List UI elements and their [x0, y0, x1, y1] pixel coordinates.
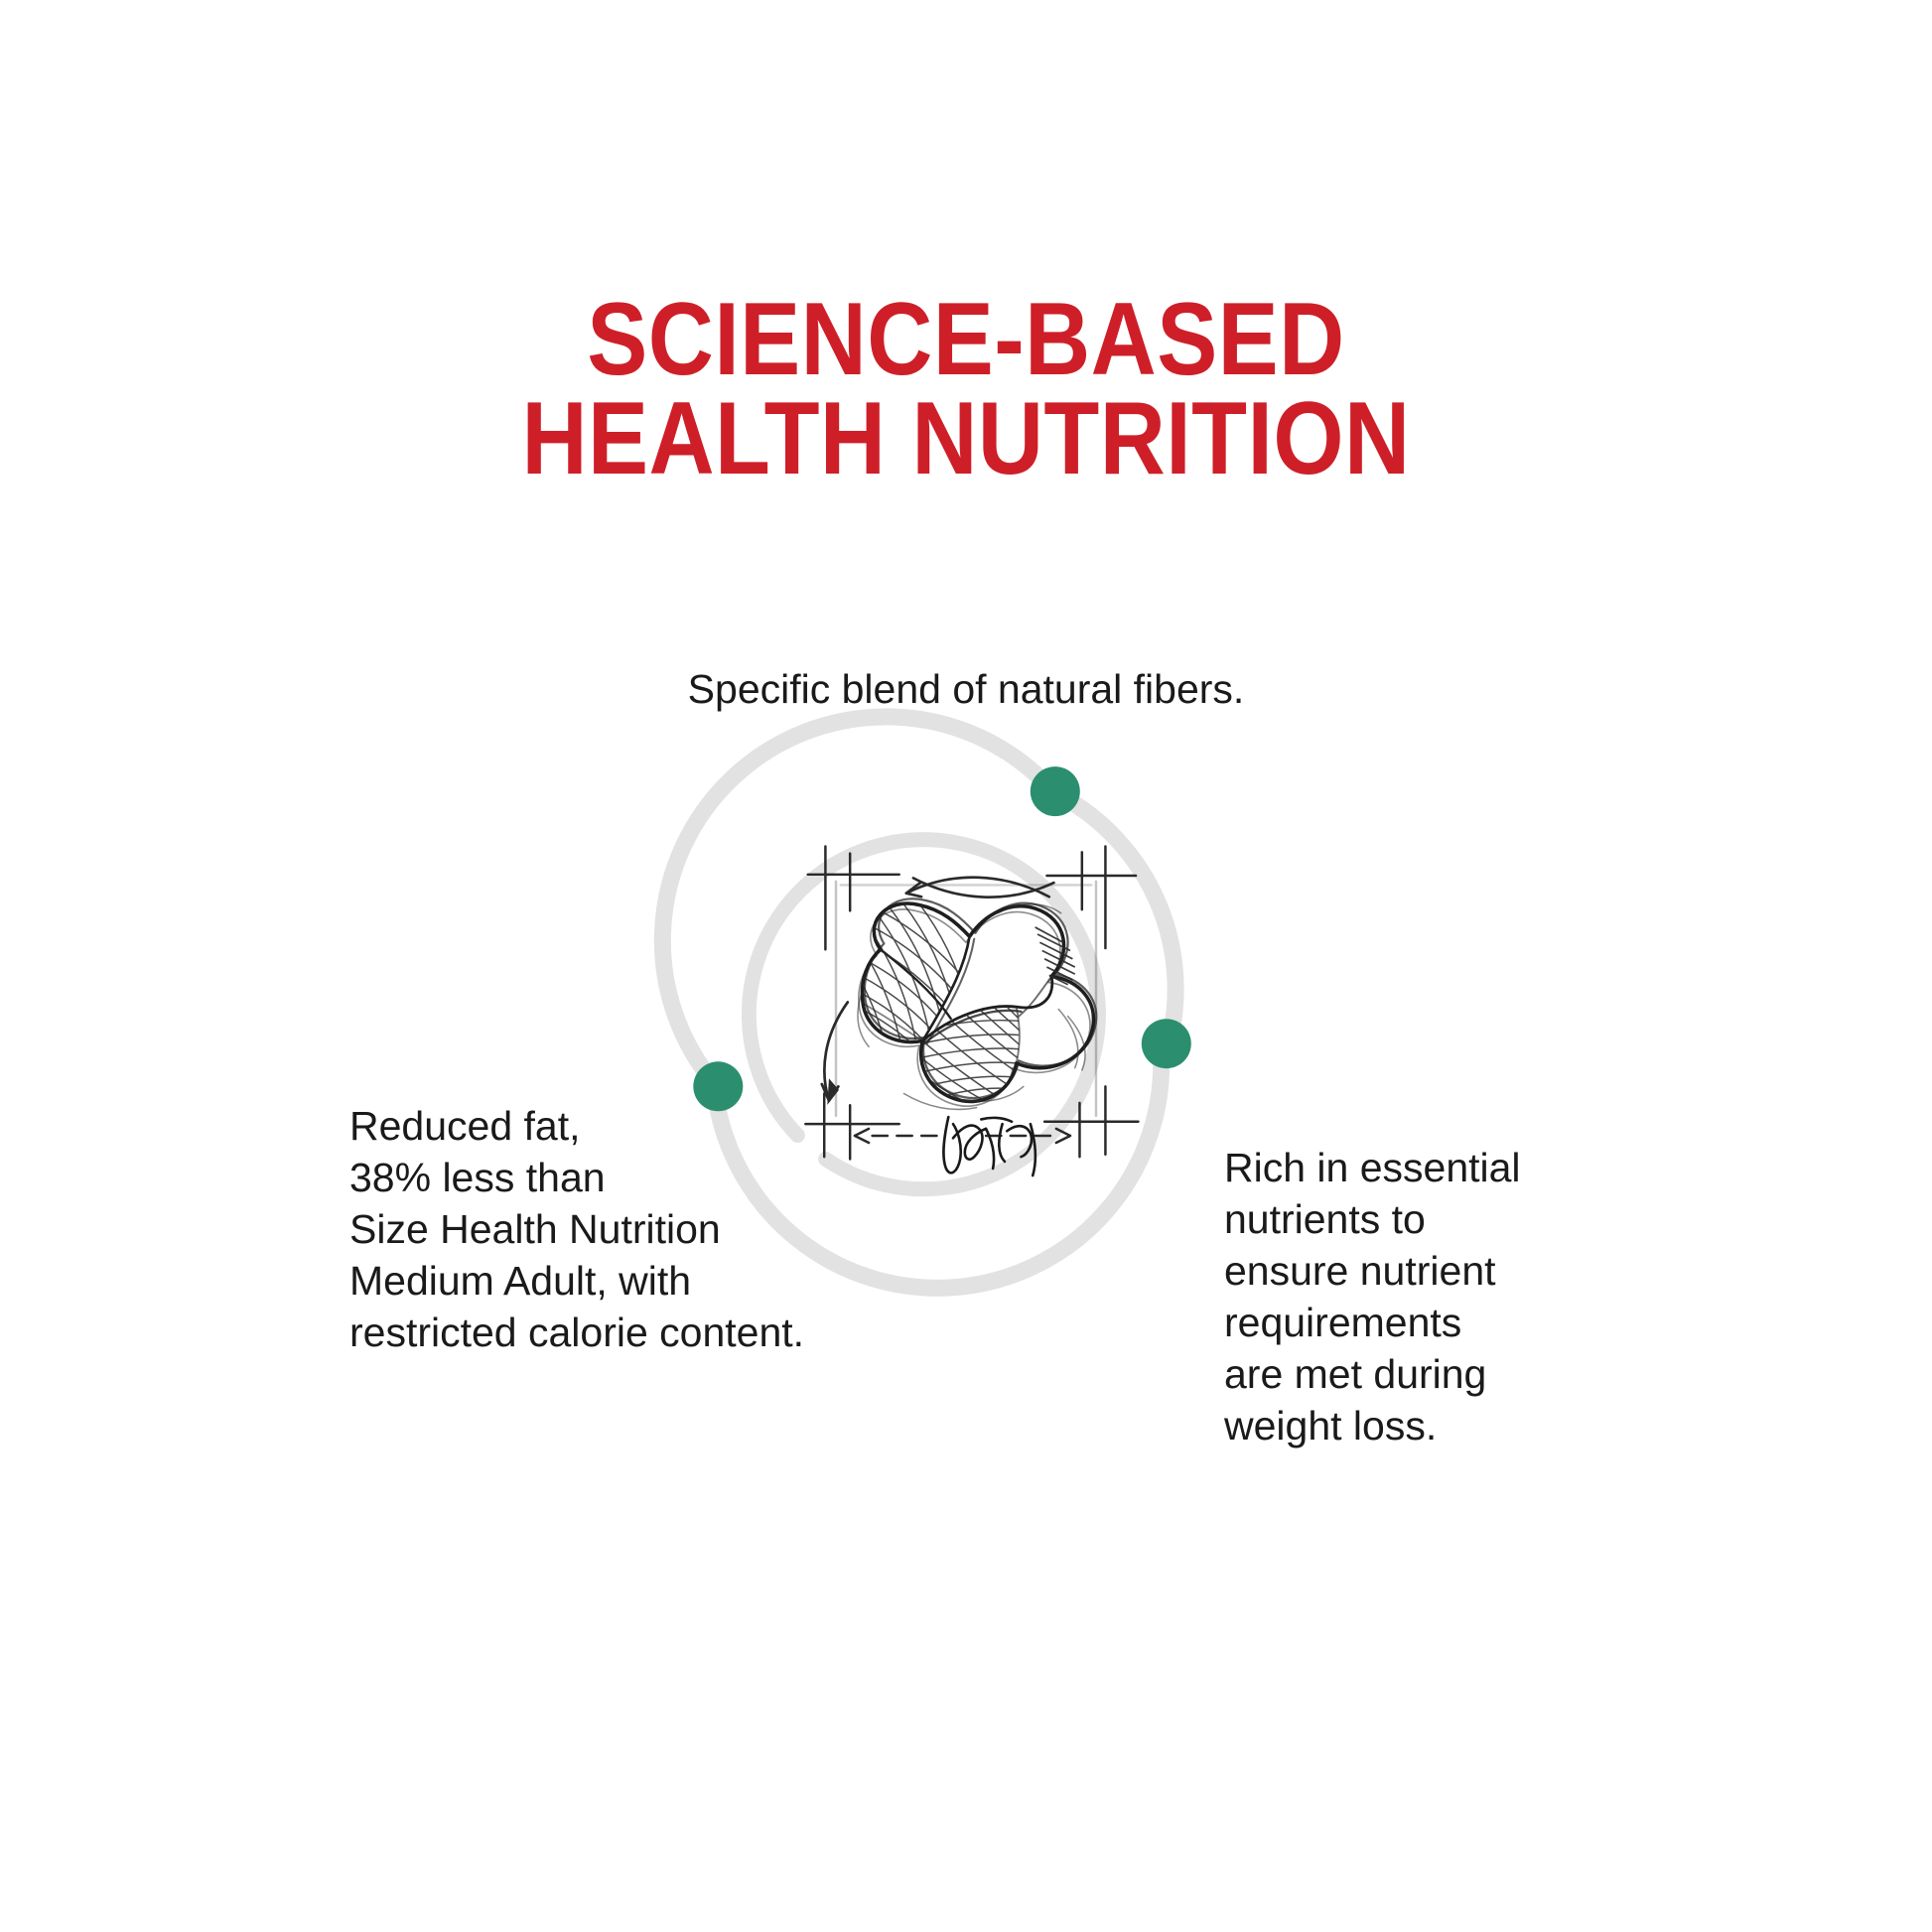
advertisement-page: SCIENCE-BASED HEALTH NUTRITION	[0, 0, 1932, 1932]
page-title-line-1: SCIENCE-BASED	[116, 290, 1816, 389]
benefit-dot-right	[1142, 1019, 1191, 1068]
callout-fibers: Specific blend of natural fibers.	[0, 663, 1932, 715]
callout-nutrients: Rich in essential nutrients to ensure nu…	[1224, 1142, 1562, 1451]
page-title: SCIENCE-BASED HEALTH NUTRITION	[0, 290, 1932, 488]
callout-reduced-fat: Reduced fat, 38% less than Size Health N…	[349, 1100, 866, 1358]
benefit-dot-top	[1031, 766, 1080, 816]
page-title-line-2: HEALTH NUTRITION	[116, 389, 1816, 488]
footer-brand-band	[0, 1541, 1932, 1680]
designer-signature	[943, 1117, 1035, 1175]
